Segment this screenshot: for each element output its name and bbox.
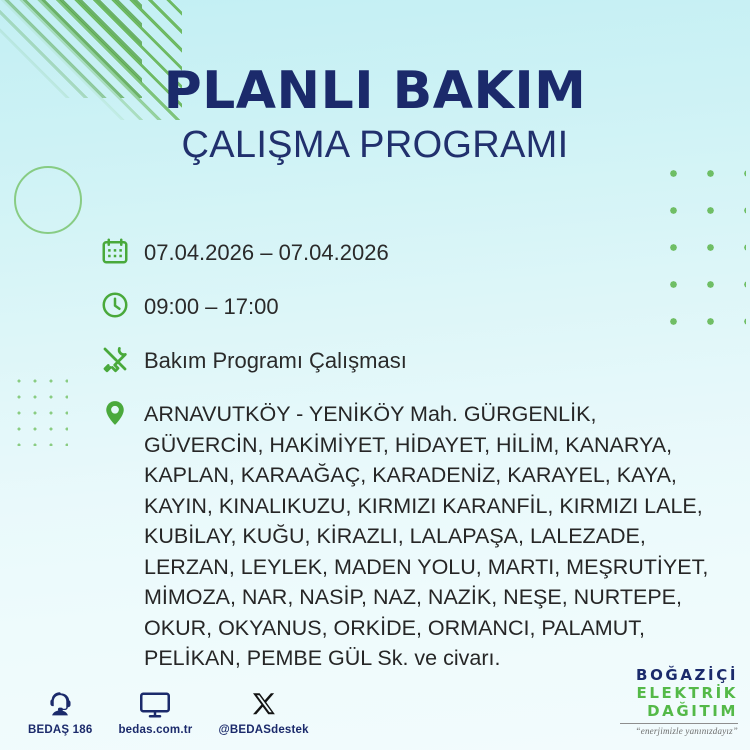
address-line: MİMOZA, NAR, NASİP, NAZ, NAZİK, NEŞE, NU… — [144, 582, 708, 613]
contact-phone[interactable]: BEDAŞ 186 — [28, 686, 92, 736]
address-line: KUBİLAY, KUĞU, KİRAZLI, LALAPAŞA, LALEZA… — [144, 521, 708, 552]
date-range-text: 07.04.2026 – 07.04.2026 — [144, 236, 389, 268]
address-line: GÜVERCİN, HAKİMİYET, HİDAYET, HİLİM, KAN… — [144, 430, 708, 461]
address-row: ARNAVUTKÖY - YENİKÖY Mah. GÜRGENLİK, GÜV… — [100, 398, 740, 674]
address-line: KAPLAN, KARAAĞAÇ, KARADENİZ, KARAYEL, KA… — [144, 460, 708, 491]
tools-icon — [100, 344, 144, 380]
contact-website[interactable]: bedas.com.tr — [118, 686, 192, 736]
logo-line-dagitim: DAĞITIM — [620, 704, 738, 719]
info-list: 07.04.2026 – 07.04.2026 09:00 – 17:00 — [100, 236, 740, 674]
logo-tagline: “enerjimizle yanınızdayız” — [620, 727, 738, 736]
contact-website-label: bedas.com.tr — [118, 724, 192, 736]
address-line: ARNAVUTKÖY - YENİKÖY Mah. GÜRGENLİK, — [144, 399, 708, 430]
address-line: LERZAN, LEYLEK, MADEN YOLU, MARTI, MEŞRU… — [144, 552, 708, 583]
contact-social-label: @BEDASdestek — [218, 724, 308, 736]
contact-social[interactable]: @BEDASdestek — [218, 686, 308, 736]
dot-grid-decoration-left — [8, 370, 68, 446]
calendar-icon — [100, 236, 144, 272]
map-pin-icon — [100, 398, 144, 434]
contact-phone-label: BEDAŞ 186 — [28, 724, 92, 736]
address-text: ARNAVUTKÖY - YENİKÖY Mah. GÜRGENLİK, GÜV… — [144, 398, 708, 674]
clock-icon — [100, 290, 144, 326]
footer-contacts: BEDAŞ 186 bedas.com.tr @BEDASdestek — [28, 686, 335, 736]
logo-line-bogazici: BOĞAZİÇİ — [620, 668, 738, 683]
circle-outline-decoration — [14, 166, 82, 234]
poster-header: PLANLI BAKIM ÇALIŞMA PROGRAMI — [0, 62, 750, 168]
time-row: 09:00 – 17:00 — [100, 290, 740, 326]
address-line: OKUR, OKYANUS, ORKİDE, ORMANCI, PALAMUT, — [144, 613, 708, 644]
time-range-text: 09:00 – 17:00 — [144, 290, 279, 322]
headset-support-icon — [44, 686, 76, 720]
address-line: KAYIN, KINALIKUZU, KIRMIZI KARANFİL, KIR… — [144, 491, 708, 522]
logo-line-elektrik: ELEKTRİK — [620, 686, 738, 701]
date-row: 07.04.2026 – 07.04.2026 — [100, 236, 740, 272]
x-twitter-icon — [249, 686, 279, 720]
planned-maintenance-poster: PLANLI BAKIM ÇALIŞMA PROGRAMI 07.04.2026… — [0, 0, 750, 750]
logo-divider — [620, 723, 738, 724]
bedas-logo: BOĞAZİÇİ ELEKTRİK DAĞITIM “enerjimizle y… — [620, 668, 738, 736]
page-title: PLANLI BAKIM — [0, 62, 750, 120]
monitor-icon — [138, 686, 172, 720]
page-subtitle: ÇALIŞMA PROGRAMI — [0, 122, 750, 168]
work-type-row: Bakım Programı Çalışması — [100, 344, 740, 380]
work-type-text: Bakım Programı Çalışması — [144, 344, 407, 376]
